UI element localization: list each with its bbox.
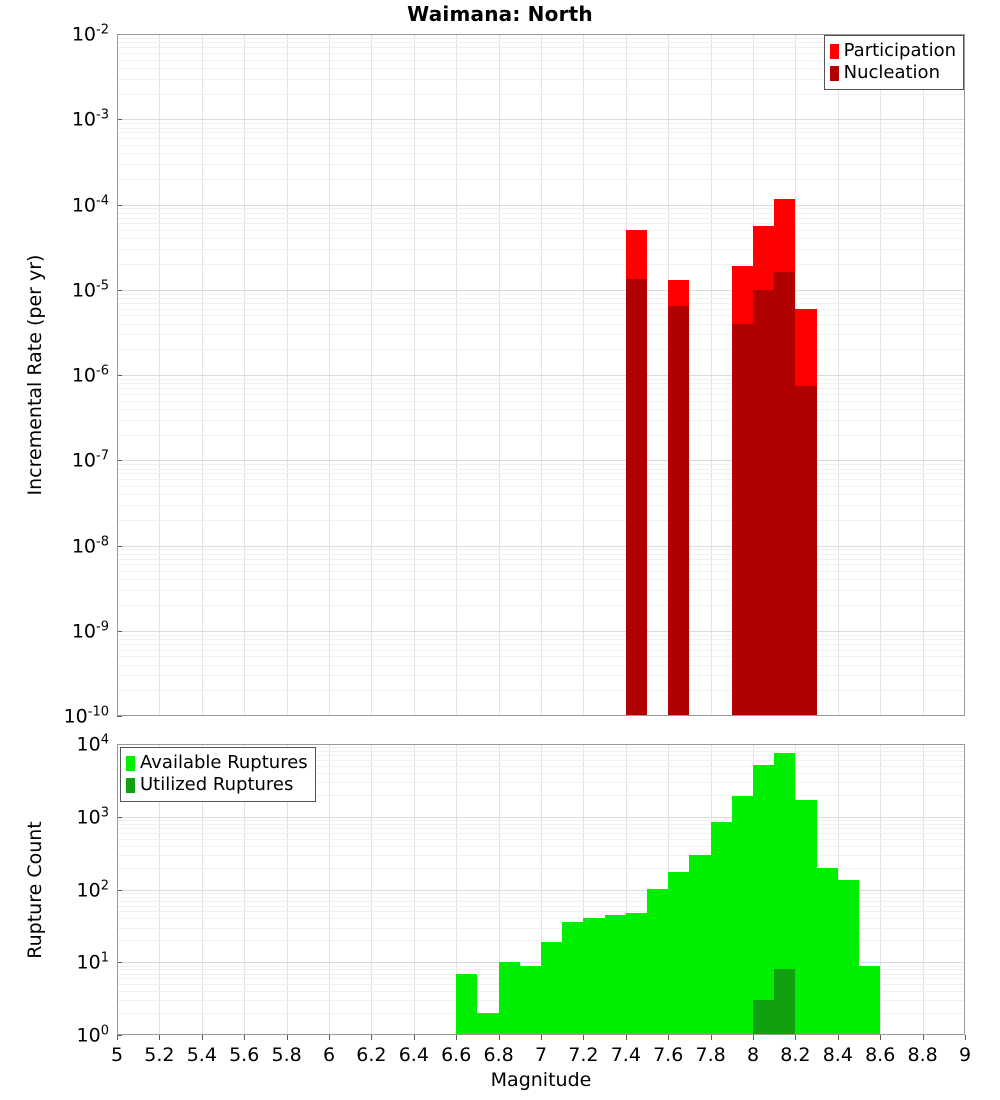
legend-rupture-count: Available RupturesUtilized Ruptures — [120, 747, 316, 802]
gridline-minor — [117, 145, 965, 146]
legend-incremental-rate-item: Participation — [830, 40, 956, 62]
legend-incremental-rate-item: Nucleation — [830, 62, 956, 84]
gridline-minor — [117, 650, 965, 651]
gridline-minor — [117, 388, 965, 389]
gridline-minor — [117, 486, 965, 487]
gridline-minor — [117, 394, 965, 395]
y-axis-bottom-tick — [117, 890, 122, 891]
legend-rupture-count-label: Utilized Ruptures — [140, 776, 293, 794]
x-axis-tick — [923, 1035, 924, 1040]
legend-incremental-rate-label: Nucleation — [844, 64, 940, 82]
gridline-minor — [117, 294, 965, 295]
bar-available-ruptures — [520, 966, 541, 1035]
legend-swatch-icon — [126, 756, 135, 771]
x-axis-tick — [499, 1035, 500, 1040]
y-axis-top-tick — [117, 375, 122, 376]
gridline-minor — [117, 839, 965, 840]
gridline-minor — [117, 473, 965, 474]
y-axis-bottom-tick-label: 103 — [77, 805, 109, 828]
bar-available-ruptures — [668, 872, 689, 1035]
gridline-minor — [117, 213, 965, 214]
bar-available-ruptures — [689, 855, 710, 1035]
x-axis-tick-label: 5.2 — [144, 1044, 174, 1066]
gridline-minor — [117, 223, 965, 224]
y-axis-bottom-tick-label: 101 — [77, 951, 109, 974]
gridline-major — [117, 631, 965, 632]
y-axis-bottom-tick — [117, 817, 122, 818]
x-axis-tick-label: 7.2 — [568, 1044, 598, 1066]
gridline-major — [117, 119, 965, 120]
y-axis-bottom-tick-label: 104 — [77, 732, 109, 755]
chart-root: Waimana: North ParticipationNucleation A… — [0, 0, 1000, 1100]
y-axis-bottom-tick-label: 100 — [77, 1023, 109, 1046]
bar-nucleation — [626, 279, 647, 716]
bar-available-ruptures — [795, 800, 816, 1035]
x-axis-tick — [795, 1035, 796, 1040]
bar-nucleation — [753, 290, 774, 716]
x-axis-tick-label: 8.4 — [823, 1044, 853, 1066]
gridline-minor — [117, 571, 965, 572]
y-axis-top-tick-label: 10-6 — [72, 363, 109, 386]
x-axis-tick-label: 6.6 — [441, 1044, 471, 1066]
gridline-minor — [117, 469, 965, 470]
bar-available-ruptures — [499, 962, 520, 1035]
bar-available-ruptures — [562, 922, 583, 1035]
gridline-minor — [117, 690, 965, 691]
bar-available-ruptures — [541, 942, 562, 1035]
y-axis-top-tick-label: 10-5 — [72, 278, 109, 301]
gridline-minor — [117, 230, 965, 231]
x-axis-tick — [117, 1035, 118, 1040]
gridline-minor — [117, 549, 965, 550]
y-axis-top-tick-label: 10-7 — [72, 449, 109, 472]
bar-utilized-ruptures — [774, 969, 795, 1035]
gridline-major — [117, 460, 965, 461]
bar-available-ruptures — [456, 974, 477, 1035]
x-axis-tick-label: 5 — [111, 1044, 123, 1066]
gridline-minor — [117, 164, 965, 165]
gridline-minor — [117, 559, 965, 560]
bar-nucleation — [668, 306, 689, 716]
y-axis-top-tick — [117, 546, 122, 547]
legend-swatch-icon — [830, 66, 839, 81]
gridline-minor — [117, 138, 965, 139]
gridline-major — [117, 744, 965, 745]
y-axis-top-tick — [117, 34, 122, 35]
y-axis-title-bottom: Rupture Count — [24, 821, 46, 959]
gridline-minor — [117, 298, 965, 299]
legend-rupture-count-label: Available Ruptures — [140, 754, 308, 772]
x-axis-tick — [456, 1035, 457, 1040]
bar-available-ruptures — [605, 915, 626, 1035]
x-axis-tick — [202, 1035, 203, 1040]
gridline-minor — [117, 128, 965, 129]
x-axis-tick — [541, 1035, 542, 1040]
gridline-major — [117, 375, 965, 376]
x-axis-tick — [159, 1035, 160, 1040]
gridline-minor — [117, 479, 965, 480]
x-axis-tick-label: 5.8 — [271, 1044, 301, 1066]
gridline-minor — [117, 409, 965, 410]
y-axis-bottom-tick-label: 102 — [77, 878, 109, 901]
x-axis-tick — [965, 1035, 966, 1040]
y-axis-bottom-tick — [117, 962, 122, 963]
gridline-minor — [117, 324, 965, 325]
y-axis-top-tick — [117, 631, 122, 632]
page-title: Waimana: North — [0, 2, 1000, 26]
x-axis-tick-label: 6.2 — [356, 1044, 386, 1066]
bar-available-ruptures — [477, 1013, 498, 1035]
x-axis-tick-label: 8.2 — [780, 1044, 810, 1066]
x-axis-tick-label: 7.4 — [611, 1044, 641, 1066]
y-axis-top-tick-label: 10-9 — [72, 619, 109, 642]
gridline-minor — [117, 334, 965, 335]
bar-nucleation — [795, 386, 816, 716]
gridline-minor — [117, 824, 965, 825]
gridline-minor — [117, 132, 965, 133]
legend-rupture-count-item: Available Ruptures — [126, 752, 308, 774]
y-axis-top-tick — [117, 119, 122, 120]
bar-available-ruptures — [817, 868, 838, 1035]
bar-available-ruptures — [626, 913, 647, 1035]
gridline-minor — [117, 179, 965, 180]
gridline-minor — [117, 820, 965, 821]
y-axis-top-tick — [117, 205, 122, 206]
bar-available-ruptures — [732, 796, 753, 1035]
y-axis-title-top: Incremental Rate (per yr) — [24, 255, 46, 496]
gridline-minor — [117, 675, 965, 676]
gridline-minor — [117, 833, 965, 834]
bar-nucleation — [732, 324, 753, 716]
gridline-minor — [117, 420, 965, 421]
legend-incremental-rate-label: Participation — [844, 42, 956, 60]
legend-swatch-icon — [126, 778, 135, 793]
bar-available-ruptures — [711, 822, 732, 1035]
gridline-minor — [117, 656, 965, 657]
gridline-major — [117, 817, 965, 818]
gridline-minor — [117, 828, 965, 829]
gridline-minor — [117, 846, 965, 847]
x-axis-tick-label: 7 — [535, 1044, 547, 1066]
x-axis-tick — [583, 1035, 584, 1040]
x-axis-tick — [880, 1035, 881, 1040]
bar-utilized-ruptures — [753, 1000, 774, 1035]
y-axis-bottom-tick — [117, 744, 122, 745]
x-axis-tick — [329, 1035, 330, 1040]
gridline-minor — [117, 868, 965, 869]
gridline-minor — [117, 635, 965, 636]
gridline-minor — [117, 590, 965, 591]
gridline-minor — [117, 435, 965, 436]
x-axis-tick — [287, 1035, 288, 1040]
x-axis-tick — [838, 1035, 839, 1040]
bar-available-ruptures — [838, 880, 859, 1035]
gridline-minor — [117, 218, 965, 219]
gridline-minor — [117, 264, 965, 265]
bar-available-ruptures — [753, 765, 774, 1035]
gridline-minor — [117, 644, 965, 645]
gridline-minor — [117, 401, 965, 402]
x-axis-tick-label: 5.4 — [187, 1044, 217, 1066]
gridline-minor — [117, 249, 965, 250]
gridline-minor — [117, 605, 965, 606]
gridline-minor — [117, 855, 965, 856]
gridline-minor — [117, 303, 965, 304]
gridline-minor — [117, 153, 965, 154]
gridline-minor — [117, 383, 965, 384]
y-axis-top-tick-label: 10-2 — [72, 22, 109, 45]
x-axis-tick — [371, 1035, 372, 1040]
y-axis-top-tick-label: 10-4 — [72, 193, 109, 216]
legend-swatch-icon — [830, 44, 839, 59]
y-axis-top-tick-label: 10-10 — [64, 704, 109, 727]
gridline-minor — [117, 315, 965, 316]
bar-available-ruptures — [583, 918, 604, 1035]
legend-incremental-rate: ParticipationNucleation — [824, 35, 964, 90]
x-axis-tick-label: 7.8 — [695, 1044, 725, 1066]
gridline-major — [117, 205, 965, 206]
y-axis-top-tick — [117, 716, 122, 717]
gridline-minor — [117, 464, 965, 465]
gridline-minor — [117, 309, 965, 310]
bar-available-ruptures — [647, 889, 668, 1035]
legend-rupture-count-item: Utilized Ruptures — [126, 774, 308, 796]
gridline-minor — [117, 123, 965, 124]
gridline-minor — [117, 520, 965, 521]
x-axis-tick-label: 9 — [959, 1044, 971, 1066]
x-axis-tick-label: 8.6 — [865, 1044, 895, 1066]
incremental-rate-plot-area — [117, 34, 965, 716]
bar-available-ruptures — [859, 966, 880, 1035]
x-axis-tick-label: 8 — [747, 1044, 759, 1066]
x-axis-tick — [668, 1035, 669, 1040]
x-axis-tick — [753, 1035, 754, 1040]
rupture-count-panel: Available RupturesUtilized Ruptures — [117, 744, 965, 1035]
x-axis-tick — [414, 1035, 415, 1040]
gridline-minor — [117, 505, 965, 506]
gridline-minor — [117, 564, 965, 565]
gridline-minor — [117, 494, 965, 495]
x-axis-tick-label: 6.4 — [399, 1044, 429, 1066]
y-axis-top-tick-label: 10-3 — [72, 108, 109, 131]
y-axis-top-tick — [117, 290, 122, 291]
bar-nucleation — [774, 272, 795, 716]
gridline-minor — [117, 94, 965, 95]
x-axis-tick-label: 5.6 — [229, 1044, 259, 1066]
x-axis-title: Magnitude — [491, 1069, 592, 1091]
gridline-major — [117, 546, 965, 547]
x-axis-tick — [711, 1035, 712, 1040]
x-axis-tick-label: 6 — [323, 1044, 335, 1066]
gridline-major — [117, 290, 965, 291]
gridline-minor — [117, 665, 965, 666]
gridline-minor — [117, 639, 965, 640]
gridline-minor — [117, 208, 965, 209]
gridline-minor — [117, 349, 965, 350]
x-axis-tick — [244, 1035, 245, 1040]
y-axis-top-tick-label: 10-8 — [72, 534, 109, 557]
gridline-minor — [117, 554, 965, 555]
gridline-minor — [117, 238, 965, 239]
x-axis-tick-label: 7.6 — [653, 1044, 683, 1066]
x-axis-tick-label: 6.8 — [483, 1044, 513, 1066]
incremental-rate-panel: ParticipationNucleation — [117, 34, 965, 716]
x-axis-tick — [626, 1035, 627, 1040]
y-axis-top-tick — [117, 460, 122, 461]
x-axis-tick-label: 8.8 — [907, 1044, 937, 1066]
gridline-minor — [117, 579, 965, 580]
gridline-minor — [117, 379, 965, 380]
